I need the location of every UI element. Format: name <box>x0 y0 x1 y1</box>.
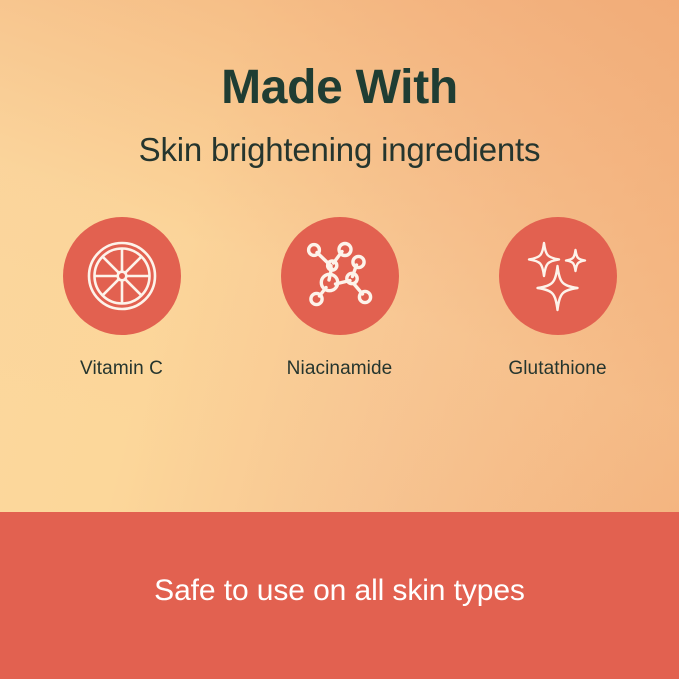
safety-banner-text: Safe to use on all skin types <box>154 574 525 618</box>
ingredient-icon-badge <box>281 217 399 335</box>
page-subtitle: Skin brightening ingredients <box>0 131 679 169</box>
ingredient-item-vitamin-c: Vitamin C <box>56 217 188 380</box>
molecule-icon <box>304 240 376 312</box>
ingredient-icon-badge <box>63 217 181 335</box>
ingredient-icon-badge <box>499 217 617 335</box>
ingredient-label: Glutathione <box>508 358 606 380</box>
poster-content: Made With Skin brightening ingredients <box>0 0 679 512</box>
ingredient-label: Niacinamide <box>287 358 393 380</box>
ingredient-list: Vitamin C <box>0 217 679 380</box>
safety-banner: Safe to use on all skin types <box>0 512 679 679</box>
made-with-ingredients-poster: Made With Skin brightening ingredients <box>0 0 679 679</box>
sparkles-icon <box>521 239 595 313</box>
ingredient-label: Vitamin C <box>80 358 163 380</box>
page-title: Made With <box>0 62 679 115</box>
citrus-slice-icon <box>85 239 159 313</box>
ingredient-item-niacinamide: Niacinamide <box>274 217 406 380</box>
ingredient-item-glutathione: Glutathione <box>492 217 624 380</box>
